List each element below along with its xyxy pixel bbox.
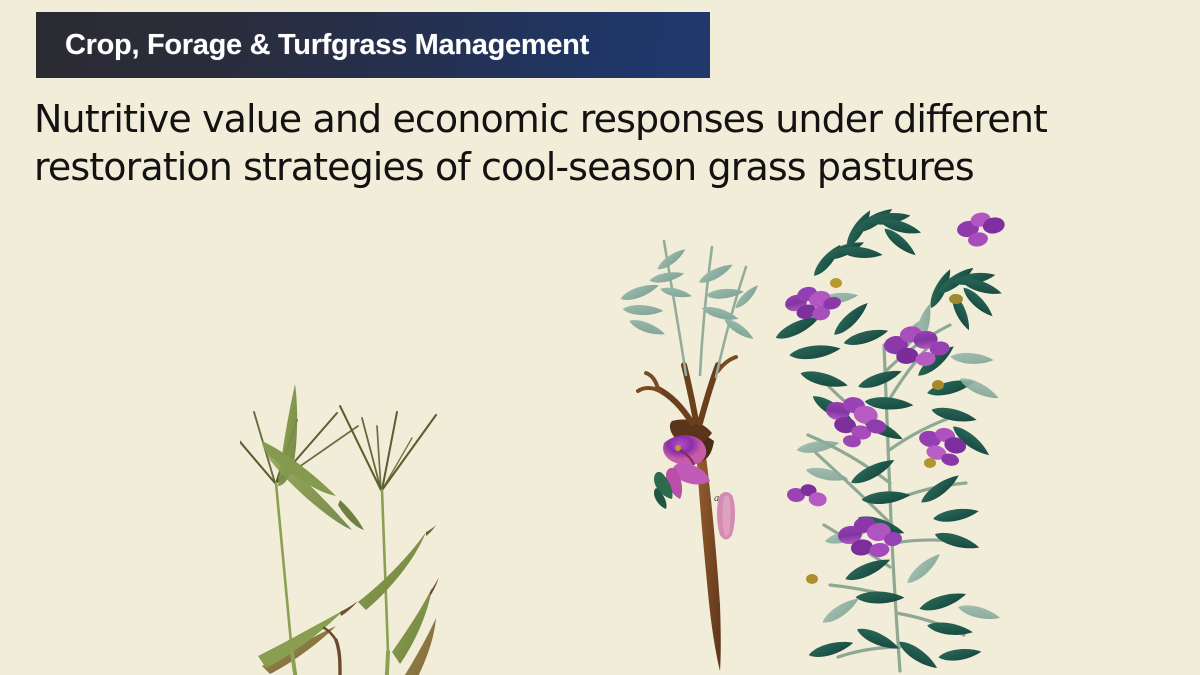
grass-leaves xyxy=(258,441,480,675)
article-title: Nutritive value and economic responses u… xyxy=(34,96,1144,192)
alfalfa-left-leaflets xyxy=(619,246,761,343)
figure-area: a b xyxy=(0,200,1200,675)
inset-petal xyxy=(717,492,735,540)
flower-raceme xyxy=(955,209,1008,250)
alfalfa-detail-insets: a b xyxy=(654,435,795,675)
journal-name: Crop, Forage & Turfgrass Management xyxy=(65,29,589,62)
flower-raceme xyxy=(786,482,828,507)
alfalfa-botanical-illustration: a b xyxy=(600,195,1040,675)
journal-banner: Crop, Forage & Turfgrass Management xyxy=(36,12,710,78)
slide-canvas: Crop, Forage & Turfgrass Management Nutr… xyxy=(0,0,1200,675)
cool-season-grass-illustration xyxy=(240,200,500,675)
